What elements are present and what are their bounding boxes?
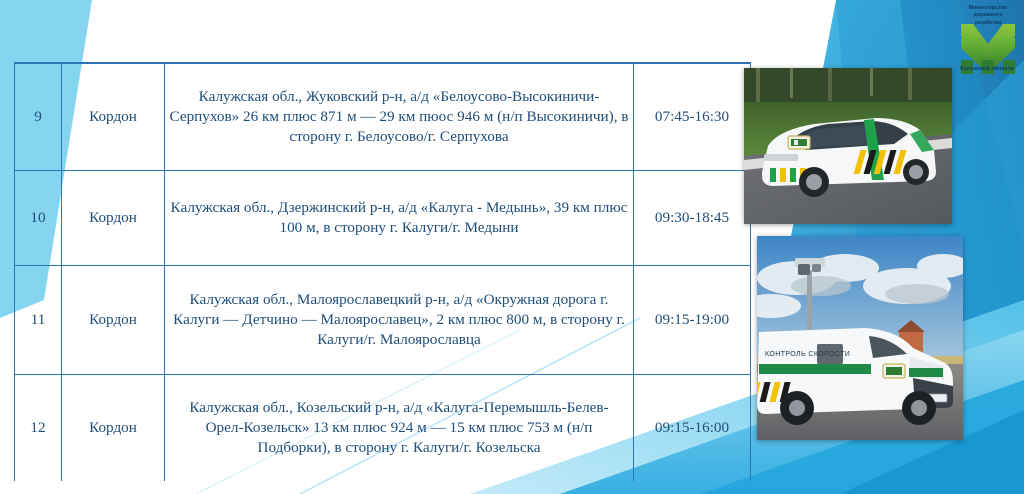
table-row: 10 Кордон Калужская обл., Дзержинский р-… (15, 171, 751, 266)
logo-title-line3: хозяйства (957, 20, 1019, 27)
presentation-slide: 9 Кордон Калужская обл., Жуковский р-н, … (0, 0, 1024, 494)
row-location-cell: Калужская обл., Козельский р-н, а/д «Кал… (165, 375, 634, 482)
speed-control-van-illustration: КОНТРОЛЬ СКОРОСТИ (757, 236, 963, 440)
patrol-car-illustration (744, 68, 952, 224)
row-number-cell: 10 (15, 171, 62, 266)
row-number-cell: 9 (15, 63, 62, 171)
table-row: 9 Кордон Калужская обл., Жуковский р-н, … (15, 63, 751, 171)
row-location-cell: Калужская обл., Жуковский р-н, а/д «Бело… (165, 63, 634, 171)
logo-title-line1: Министерство (957, 5, 1019, 12)
ministry-logo-title: Министерство дорожного хозяйства (957, 5, 1019, 27)
row-location-cell: Калужская обл., Дзержинский р-н, а/д «Ка… (165, 171, 634, 266)
ministry-logo-caption: Калужской области (948, 66, 1024, 72)
row-type-cell: Кордон (62, 266, 165, 375)
speed-control-van-photo: КОНТРОЛЬ СКОРОСТИ (757, 236, 963, 440)
row-location-cell: Калужская обл., Малоярославецкий р-н, а/… (165, 266, 634, 375)
row-time-cell: 09:15-16:00 (634, 375, 751, 482)
row-type-cell: Кордон (62, 375, 165, 482)
row-time-cell: 09:15-19:00 (634, 266, 751, 375)
row-type-cell: Кордон (62, 63, 165, 171)
row-type-cell: Кордон (62, 171, 165, 266)
row-time-cell: 07:45-16:30 (634, 63, 751, 171)
row-number-cell: 11 (15, 266, 62, 375)
van-body-label: КОНТРОЛЬ СКОРОСТИ (765, 351, 850, 358)
speed-control-posts-schedule: 9 Кордон Калужская обл., Жуковский р-н, … (14, 62, 751, 481)
row-time-cell: 09:30-18:45 (634, 171, 751, 266)
table-row: 12 Кордон Калужская обл., Козельский р-н… (15, 375, 751, 482)
table-row: 11 Кордон Калужская обл., Малоярославецк… (15, 266, 751, 375)
row-number-cell: 12 (15, 375, 62, 482)
road-service-patrol-car-photo (744, 68, 952, 224)
logo-title-line2: дорожного (957, 12, 1019, 19)
